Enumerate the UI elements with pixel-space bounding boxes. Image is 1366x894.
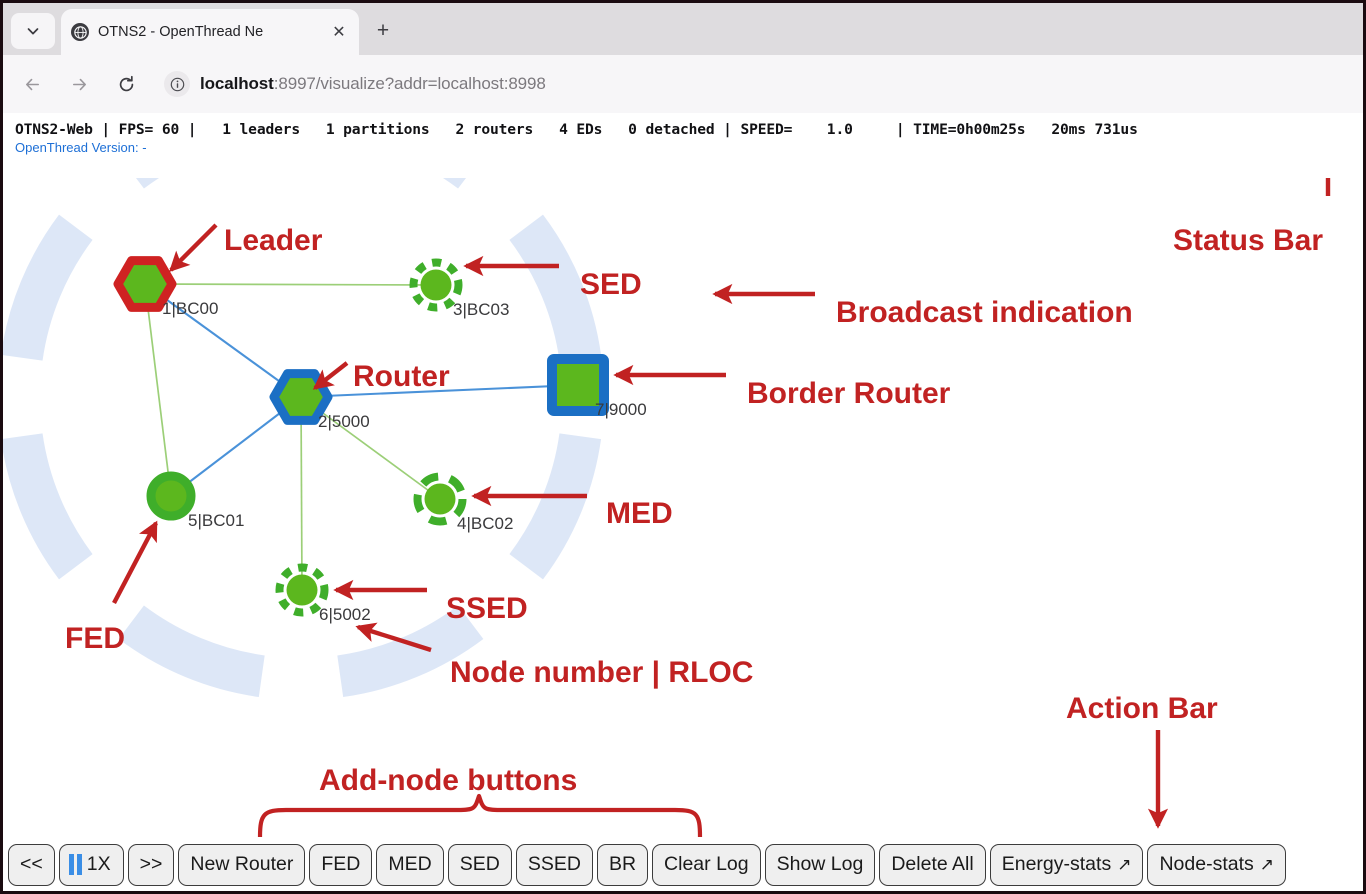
browser-tab[interactable]: OTNS2 - OpenThread Ne ✕ xyxy=(61,9,359,55)
browser-chrome: OTNS2 - OpenThread Ne ✕ + xyxy=(3,3,1363,113)
action-bar[interactable]: <<1X>>New RouterFEDMEDSEDSSEDBRClear Log… xyxy=(3,837,1363,891)
url-host: localhost xyxy=(200,74,274,93)
annotation-sed: SED xyxy=(580,268,642,301)
annotation-broadcast: Broadcast indication xyxy=(836,296,1133,329)
node-label-7: 7|9000 xyxy=(595,400,647,419)
fed-button[interactable]: FED xyxy=(309,844,372,886)
reload-icon[interactable] xyxy=(109,67,143,101)
annotation-border-router: Border Router xyxy=(747,377,951,410)
fed-button-label: FED xyxy=(321,853,360,876)
annotation-router: Router xyxy=(353,360,450,393)
node-label-1: 1|BC00 xyxy=(162,299,218,318)
status-text: OTNS2-Web | FPS= 60 | 1 leaders 1 partit… xyxy=(15,121,1363,138)
med-button[interactable]: MED xyxy=(376,844,443,886)
br-button-label: BR xyxy=(609,853,636,876)
arrow-leader xyxy=(171,225,216,270)
show-log-button[interactable]: Show Log xyxy=(765,844,876,886)
node-shape-ring-circle[interactable] xyxy=(151,476,191,516)
energy-stats-button-label: Energy-stats xyxy=(1002,853,1111,876)
annotation-node-rloc: Node number | RLOC xyxy=(450,656,753,689)
annotation-fed: FED xyxy=(65,622,125,655)
node-3[interactable]: 3|BC03 xyxy=(414,263,510,320)
link-1-3 xyxy=(145,284,436,285)
network-visualizer[interactable]: 1|BC003|BC032|50007|90005|BC014|BC026|50… xyxy=(3,178,1363,837)
info-circle-icon[interactable] xyxy=(164,71,190,97)
close-icon[interactable]: ✕ xyxy=(329,22,349,42)
node-label-6: 6|5002 xyxy=(319,605,371,624)
external-link-icon: ↗ xyxy=(1260,855,1274,875)
node-label-4: 4|BC02 xyxy=(457,514,513,533)
node-stats-button-label: Node-stats xyxy=(1159,853,1253,876)
step-forward-button[interactable]: >> xyxy=(128,844,175,886)
annotation-add-node: Add-node buttons xyxy=(319,764,577,797)
delete-all-button[interactable]: Delete All xyxy=(879,844,985,886)
browser-toolbar: localhost:8997/visualize?addr=localhost:… xyxy=(3,55,1363,113)
arrow-right-icon[interactable] xyxy=(62,67,96,101)
otns-status-bar: OTNS2-Web | FPS= 60 | 1 leaders 1 partit… xyxy=(3,113,1363,155)
show-log-button-label: Show Log xyxy=(777,853,864,876)
address-bar[interactable]: localhost:8997/visualize?addr=localhost:… xyxy=(162,66,1351,102)
external-link-icon: ↗ xyxy=(1117,855,1131,875)
annotation-status-bar: Status Bar xyxy=(1173,224,1323,257)
annotation-med: MED xyxy=(606,497,673,530)
globe-icon xyxy=(71,23,89,41)
annotation-ssed: SSED xyxy=(446,592,528,625)
broadcast-arc xyxy=(337,178,483,189)
energy-stats-button[interactable]: Energy-stats↗ xyxy=(990,844,1144,886)
tab-title: OTNS2 - OpenThread Ne xyxy=(98,24,329,40)
node-5[interactable]: 5|BC01 xyxy=(151,476,244,530)
node-label-2: 2|5000 xyxy=(318,412,370,431)
node-6[interactable]: 6|5002 xyxy=(280,568,371,625)
node-1[interactable]: 1|BC00 xyxy=(118,261,218,318)
node-label-5: 5|BC01 xyxy=(188,511,244,530)
br-button[interactable]: BR xyxy=(597,844,648,886)
link-layer xyxy=(145,284,578,590)
node-shape-circle[interactable] xyxy=(421,270,452,301)
med-button-label: MED xyxy=(388,853,431,876)
url-path: :8997/visualize?addr=localhost:8998 xyxy=(274,74,546,93)
sed-button[interactable]: SED xyxy=(448,844,512,886)
clear-log-button[interactable]: Clear Log xyxy=(652,844,761,886)
delete-all-button-label: Delete All xyxy=(891,853,973,876)
node-shape-circle[interactable] xyxy=(425,484,456,515)
arrow-left-icon[interactable] xyxy=(15,67,49,101)
step-back-button-label: << xyxy=(20,853,43,876)
clear-log-button-label: Clear Log xyxy=(664,853,749,876)
annotation-arrows xyxy=(114,178,1328,826)
add-node-buttons-brace xyxy=(260,796,700,837)
arrow-fed xyxy=(114,523,156,603)
broadcast-arc xyxy=(119,178,265,189)
sed-button-label: SED xyxy=(460,853,500,876)
ssed-button[interactable]: SSED xyxy=(516,844,593,886)
new-tab-button[interactable]: + xyxy=(369,17,397,45)
tab-strip: OTNS2 - OpenThread Ne ✕ + xyxy=(3,3,1363,55)
ssed-button-label: SSED xyxy=(528,853,581,876)
link-2-6 xyxy=(301,397,302,590)
broadcast-arc xyxy=(3,215,93,361)
node-stats-button[interactable]: Node-stats↗ xyxy=(1147,844,1286,886)
new-router-button-label: New Router xyxy=(190,853,293,876)
annotation-action-bar: Action Bar xyxy=(1066,692,1218,725)
new-router-button[interactable]: New Router xyxy=(178,844,305,886)
node-4[interactable]: 4|BC02 xyxy=(418,477,514,534)
node-label-3: 3|BC03 xyxy=(453,300,509,319)
chevron-down-icon[interactable] xyxy=(11,13,55,49)
node-7[interactable]: 7|9000 xyxy=(552,359,647,419)
broadcast-arc xyxy=(509,433,601,579)
step-back-button[interactable]: << xyxy=(8,844,55,886)
broadcast-arc xyxy=(3,433,93,579)
visualizer-canvas[interactable]: 1|BC003|BC032|50007|90005|BC014|BC026|50… xyxy=(3,178,1363,837)
node-shape-circle[interactable] xyxy=(287,575,318,606)
speed-button[interactable]: 1X xyxy=(59,844,124,886)
annotation-leader: Leader xyxy=(224,224,323,257)
speed-button-label: 1X xyxy=(87,853,111,876)
broadcast-arc xyxy=(119,605,265,697)
step-forward-button-label: >> xyxy=(140,853,163,876)
openthread-version-label: OpenThread Version: - xyxy=(15,140,1363,155)
browser-window: OTNS2 - OpenThread Ne ✕ + xyxy=(0,0,1366,894)
url-text: localhost:8997/visualize?addr=localhost:… xyxy=(200,74,546,94)
annotation-layer: LeaderSEDBroadcast indicationStatus BarR… xyxy=(65,224,1323,797)
pause-icon xyxy=(69,854,82,875)
